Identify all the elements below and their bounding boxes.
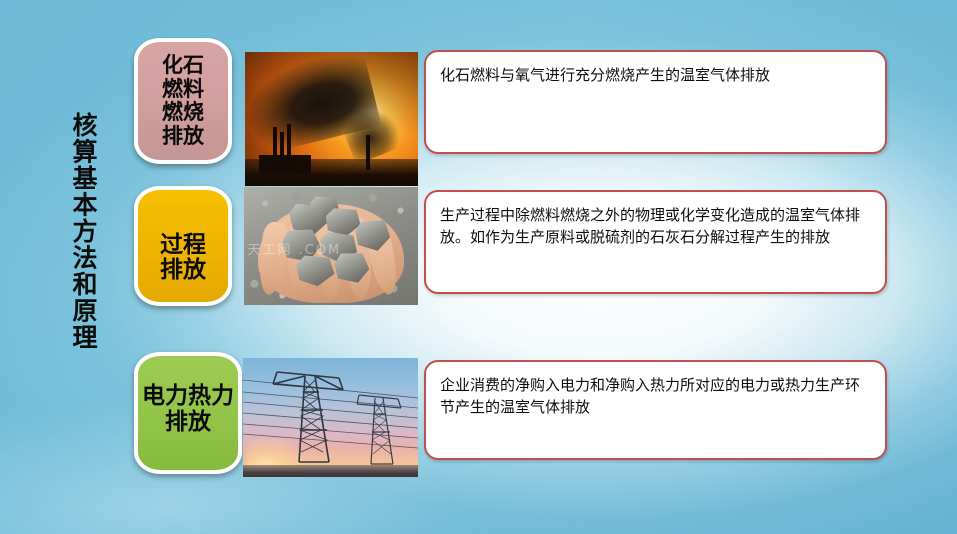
badge-label-line: 电力热力 bbox=[142, 384, 234, 410]
photo-ground bbox=[243, 465, 418, 477]
callout-text: 企业消费的净购入电力和净购入热力所对应的电力或热力生产环节产生的温室气体排放 bbox=[440, 376, 860, 416]
badge-label-line: 过程 bbox=[160, 233, 206, 259]
photo-chimney bbox=[287, 124, 291, 170]
photo-chimney bbox=[366, 135, 370, 170]
badge-label-line: 化石 bbox=[162, 54, 204, 78]
smokestack-photo bbox=[245, 52, 418, 186]
callout-text: 生产过程中除燃料燃烧之外的物理或化学变化造成的温室气体排放。如作为生产原料或脱硫… bbox=[440, 206, 860, 246]
callout-box: 企业消费的净购入电力和净购入热力所对应的电力或热力生产环节产生的温室气体排放 bbox=[424, 360, 887, 460]
badge-process-emission[interactable]: 过程 排放 bbox=[134, 186, 232, 306]
callout-box: 生产过程中除燃料燃烧之外的物理或化学变化造成的温室气体排放。如作为生产原料或脱硫… bbox=[424, 190, 887, 294]
callout-text: 化石燃料与氧气进行充分燃烧产生的温室气体排放 bbox=[440, 66, 770, 84]
slide-canvas: 核算基本方法和原理 化石 燃料 燃烧 排放 化石燃料与氧气进行充分燃烧产生的温室… bbox=[0, 0, 957, 534]
callout-box: 化石燃料与氧气进行充分燃烧产生的温室气体排放 bbox=[424, 50, 887, 154]
photo-watermark: 天工网 .COM bbox=[247, 239, 414, 258]
content-row: 过程 排放 天工网 .COM 生产过程中除燃料燃烧之外的物理或化学变化造成的温室… bbox=[0, 186, 957, 308]
content-row: 电力热力 排放 bbox=[0, 352, 957, 474]
content-row: 化石 燃料 燃烧 排放 化石燃料与氧气进行充分燃烧产生的温室气体排放 bbox=[0, 36, 957, 166]
badge-label-line: 燃料 bbox=[162, 78, 204, 102]
photo-chimney bbox=[280, 132, 284, 170]
badge-label-line: 排放 bbox=[162, 125, 204, 149]
badge-fossil-fuel-combustion[interactable]: 化石 燃料 燃烧 排放 bbox=[134, 38, 232, 164]
power-transmission-tower-photo bbox=[243, 358, 418, 477]
limestone-in-hand-photo: 天工网 .COM bbox=[244, 187, 418, 305]
badge-electricity-heat-emission[interactable]: 电力热力 排放 bbox=[134, 352, 242, 474]
badge-label-line: 排放 bbox=[165, 410, 211, 436]
photo-tower-lines bbox=[243, 358, 418, 477]
badge-label-line: 排放 bbox=[160, 258, 206, 284]
badge-label-line: 燃烧 bbox=[162, 101, 204, 125]
photo-chimney bbox=[273, 127, 277, 170]
photo-factory-building bbox=[259, 155, 311, 174]
